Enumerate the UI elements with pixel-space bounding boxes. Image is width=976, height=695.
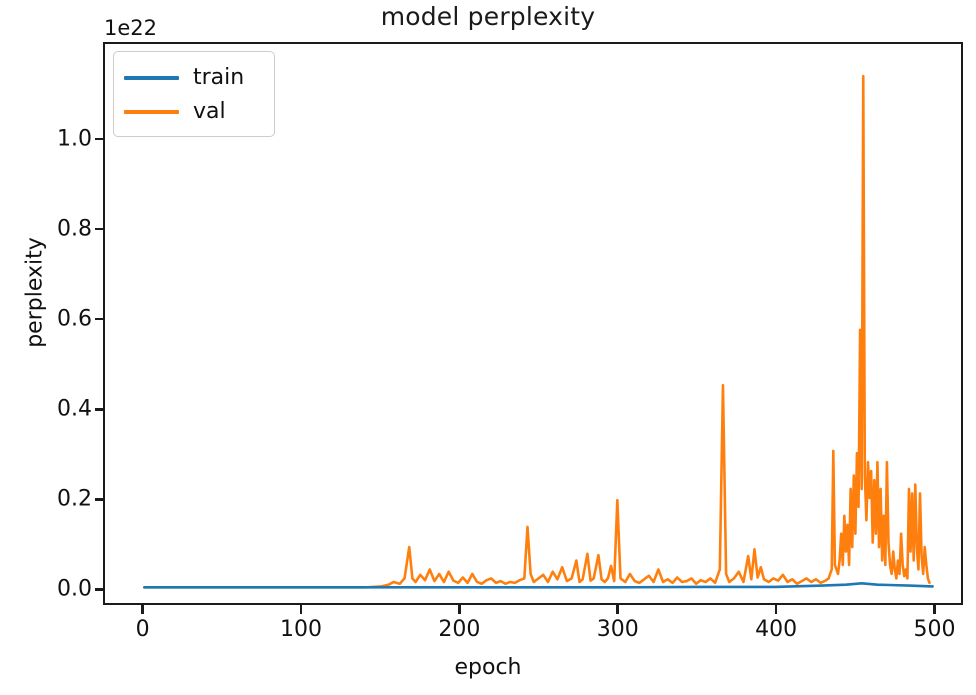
x-tick-label: 300 [597,617,639,642]
y-tick-label: 1.0 [57,126,92,151]
y-tick-mark [95,408,104,411]
y-tick-mark [95,228,104,231]
x-tick-label: 100 [280,617,322,642]
x-tick-mark [616,605,619,614]
x-tick-label: 500 [913,617,955,642]
y-tick-label: 0.8 [57,216,92,241]
x-tick-label: 200 [438,617,480,642]
x-tick-mark [300,605,303,614]
x-tick-label: 400 [755,617,797,642]
series-line-val [144,76,929,587]
x-tick-mark [458,605,461,614]
legend-label-train: train [193,67,244,89]
y-tick-label: 0.2 [57,487,92,512]
y-axis-label: perplexity [23,0,48,593]
y-axis-offset-label: 1e22 [104,16,157,40]
chart-legend: train val [113,51,275,137]
legend-entry-val: val [124,95,264,129]
x-tick-mark [775,605,778,614]
x-tick-mark [141,605,144,614]
chart-figure: model perplexity 1e22 0.00.20.40.60.81.0… [0,0,976,695]
legend-swatch-val [124,110,179,114]
y-tick-label: 0.0 [57,577,92,602]
x-tick-mark [933,605,936,614]
y-tick-label: 0.4 [57,397,92,422]
x-axis-label: epoch [0,655,976,680]
y-tick-mark [95,588,104,591]
y-tick-label: 0.6 [57,306,92,331]
y-tick-mark [95,138,104,141]
series-line-train [144,583,932,587]
y-tick-mark [95,498,104,501]
legend-swatch-train [124,76,179,80]
x-tick-label: 0 [136,617,150,642]
legend-entry-train: train [124,61,264,95]
y-tick-mark [95,318,104,321]
legend-label-val: val [193,101,226,123]
